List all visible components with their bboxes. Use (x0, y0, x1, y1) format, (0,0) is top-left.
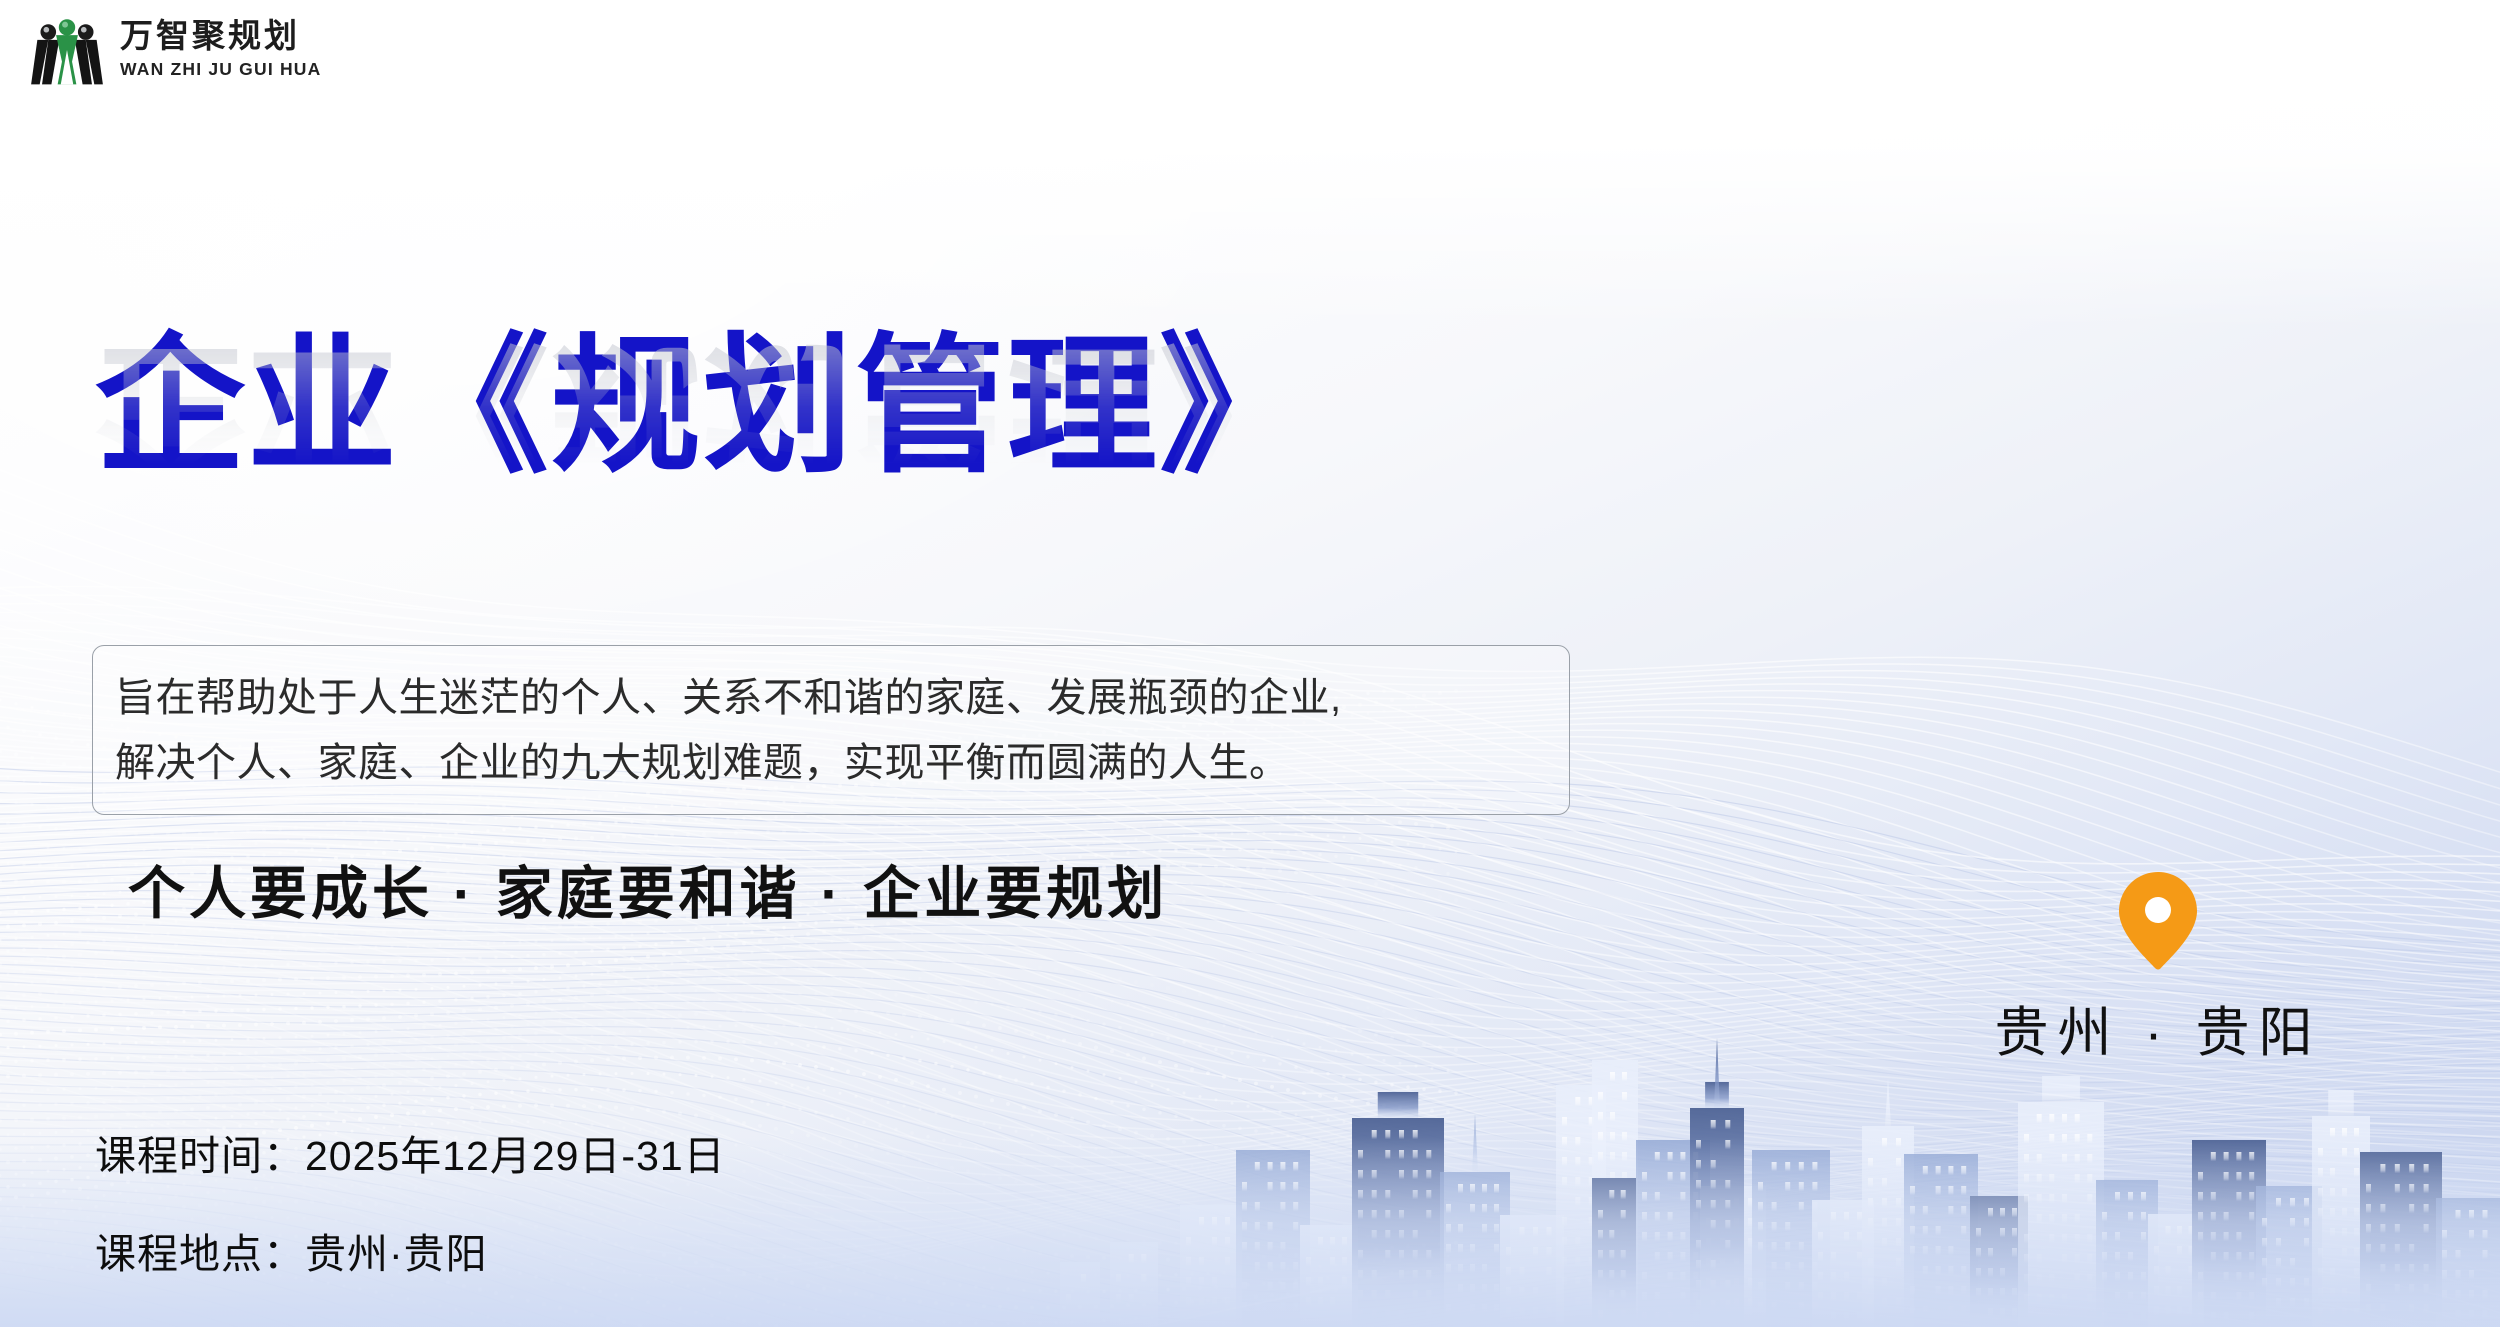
brand-name-cn: 万智聚规划 (120, 21, 321, 54)
location-label: 贵州 · 贵阳 (1995, 988, 2322, 1067)
description-box: 旨在帮助处于人生迷茫的个人、关系不和谐的家庭、发展瓶颈的企业, 解决个人、家庭、… (92, 645, 1570, 815)
course-time: 课程时间：2025年12月29日-31日 (95, 1122, 726, 1182)
map-pin-icon (2119, 872, 2197, 970)
three-people-logo-icon (28, 14, 106, 86)
tagline: 个人要成长 · 家庭要和谐 · 企业要规划 (128, 848, 1168, 930)
hero-title-block: 企业《规划管理》 企业《规划管理》 (95, 330, 1311, 640)
description-line-1: 旨在帮助处于人生迷茫的个人、关系不和谐的家庭、发展瓶颈的企业, (115, 666, 1547, 731)
brand-logo: 万智聚规划 WAN ZHI JU GUI HUA (28, 14, 321, 86)
poster-canvas: 万智聚规划 WAN ZHI JU GUI HUA 企业《规划管理》 企业《规划管… (0, 0, 2500, 1327)
brand-logo-text: 万智聚规划 WAN ZHI JU GUI HUA (120, 21, 321, 79)
location-block: 贵州 · 贵阳 (1958, 872, 2358, 1067)
page-title-reflection: 企业《规划管理》 (95, 334, 1311, 487)
course-info-block: 课程时间：2025年12月29日-31日 课程地点：贵州·贵阳 (95, 1122, 726, 1280)
description-line-2: 解决个人、家庭、企业的九大规划难题，实现平衡而圆满的人生。 (115, 731, 1547, 796)
course-place: 课程地点：贵州·贵阳 (95, 1220, 726, 1280)
brand-name-pinyin: WAN ZHI JU GUI HUA (120, 61, 321, 79)
top-white-overlay (0, 0, 2500, 330)
